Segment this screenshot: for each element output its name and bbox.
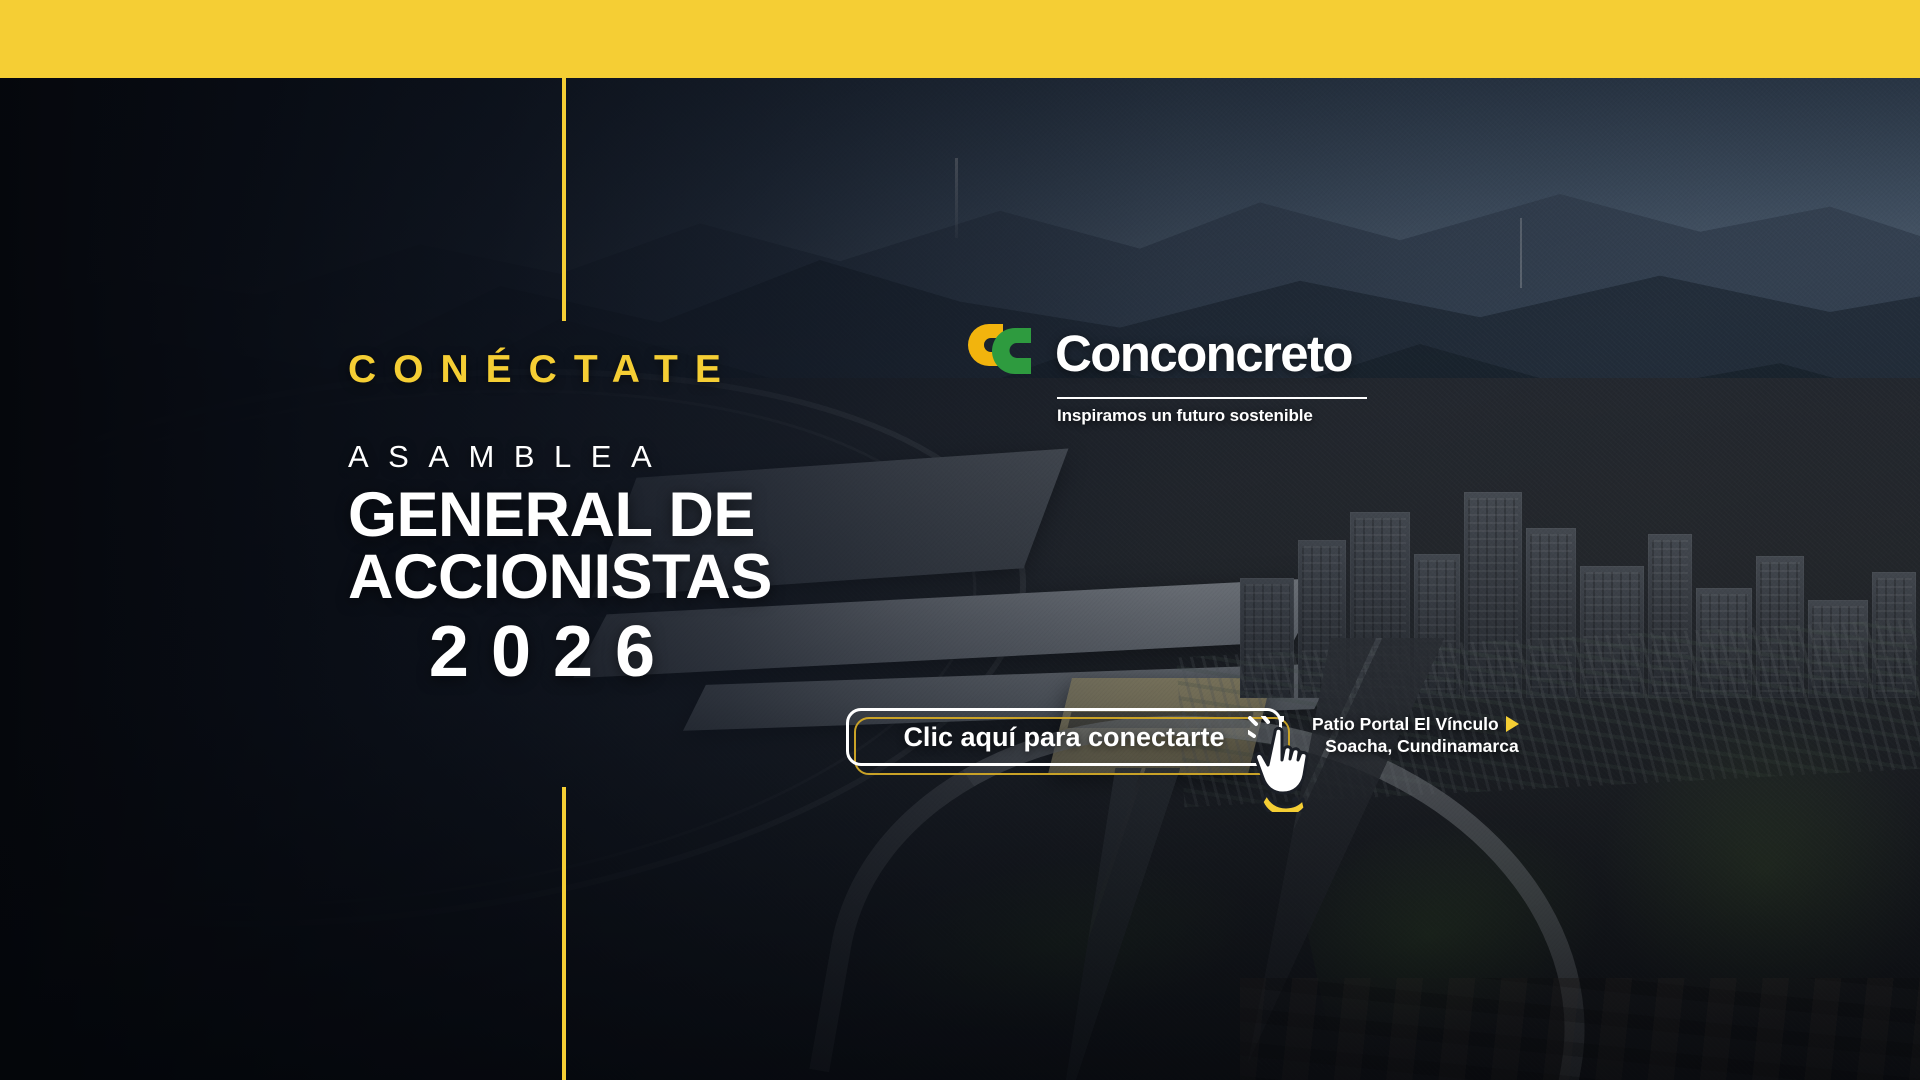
conconcreto-double-c-icon [965,318,1049,388]
yellow-vertical-rule-top [562,78,566,321]
year-2026: 2026 [348,616,736,688]
top-accent-bar [0,0,1920,78]
cta-container: Clic aquí para conectarte [846,708,1282,766]
kicker-asamblea: ASAMBLEA [348,441,772,472]
promo-banner: CONÉCTATE ASAMBLEA GENERAL DE ACCIONISTA… [0,0,1920,1080]
background-photo-aerial-transit-station [0,78,1920,1080]
connect-button-label: Clic aquí para conectarte [903,722,1224,753]
eyebrow-conectate: CONÉCTATE [348,350,772,389]
dark-gradient-overlay-bottom [0,78,1920,1080]
headline-block: CONÉCTATE ASAMBLEA GENERAL DE ACCIONISTA… [348,350,772,688]
title-line-1: GENERAL DE [348,483,772,547]
conconcreto-logo: Conconcreto Inspiramos un futuro sosteni… [965,318,1365,426]
location-caption: Patio Portal El Vínculo Soacha, Cundinam… [1312,713,1519,758]
location-line-1: Patio Portal El Vínculo [1312,713,1499,735]
title-line-2: ACCIONISTAS [348,545,772,609]
pointing-hand-cursor-icon [1248,716,1334,812]
logo-wordmark: Conconcreto [1055,328,1352,379]
logo-divider [1057,397,1367,399]
logo-tagline: Inspiramos un futuro sostenible [1057,406,1365,426]
connect-button[interactable]: Clic aquí para conectarte [846,708,1282,766]
triangle-marker-icon [1506,716,1519,732]
location-line-2: Soacha, Cundinamarca [1325,735,1519,757]
yellow-vertical-rule-bottom [562,787,566,1080]
